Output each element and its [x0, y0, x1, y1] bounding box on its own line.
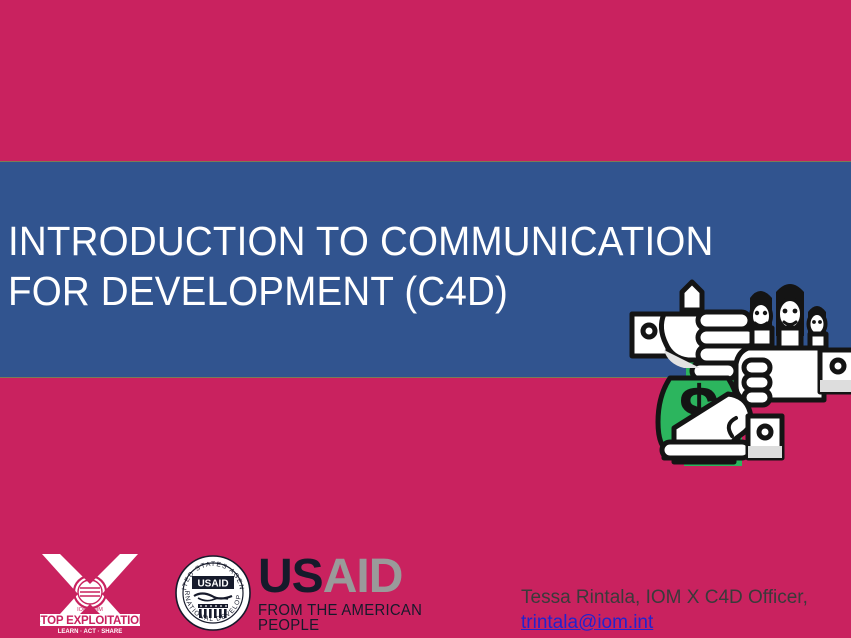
title-line-2: FOR DEVELOPMENT (C4D): [8, 266, 760, 316]
usaid-tagline: FROM THE AMERICAN PEOPLE: [258, 603, 431, 634]
usaid-wordmark-aid: AID: [323, 550, 403, 603]
iom-x-logo: IOM · OIM STOP EXPLOITATION LEARN · ACT …: [38, 552, 142, 636]
presentation-slide: INTRODUCTION TO COMMUNICATION FOR DEVELO…: [0, 0, 851, 638]
usaid-wordmark: USAID FROM THE AMERICAN PEOPLE: [258, 553, 438, 634]
contact-email-link[interactable]: trintala@iom.int: [521, 610, 653, 635]
iomx-emblem-text: IOM · OIM: [77, 607, 103, 613]
contact-block: Tessa Rintala, IOM X C4D Officer, trinta…: [521, 585, 851, 635]
title-line-1: INTRODUCTION TO COMMUNICATION: [8, 216, 760, 266]
usaid-logo: UNITED STATES AGENCY INTERNATIONAL DEVEL…: [174, 550, 438, 636]
iomx-tagline-primary: STOP EXPLOITATION: [38, 615, 142, 627]
page-title: INTRODUCTION TO COMMUNICATION FOR DEVELO…: [8, 216, 808, 316]
usaid-seal: UNITED STATES AGENCY INTERNATIONAL DEVEL…: [174, 554, 252, 632]
usaid-wordmark-us: US: [258, 550, 323, 603]
iomx-tagline-secondary: LEARN · ACT · SHARE: [58, 629, 122, 635]
svg-text:USAID: USAID: [197, 579, 228, 590]
contact-name: Tessa Rintala, IOM X C4D Officer,: [521, 585, 851, 610]
